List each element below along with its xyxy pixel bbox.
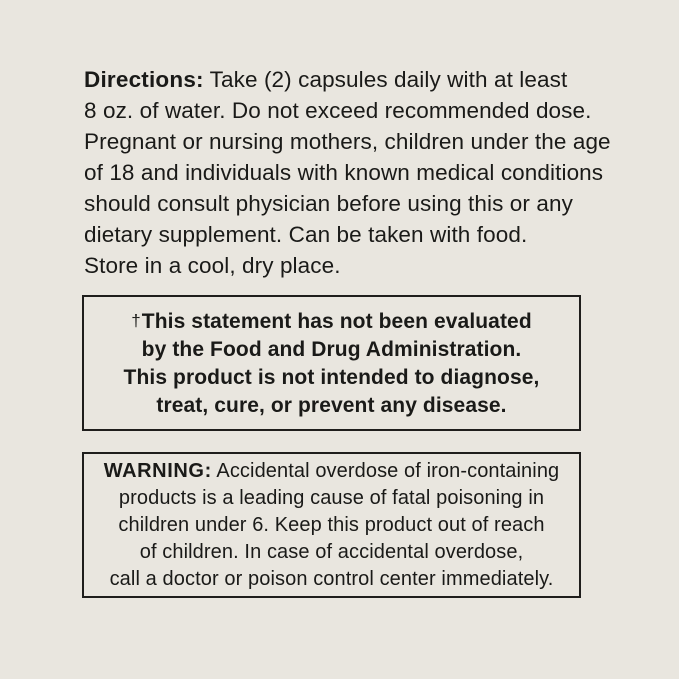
warning-line-text: Accidental overdose of iron-containing <box>212 460 559 482</box>
warning-line: call a doctor or poison control center i… <box>110 566 554 593</box>
directions-line: of 18 and individuals with known medical… <box>84 157 614 188</box>
directions-label: Directions: <box>84 67 204 92</box>
directions-line: dietary supplement. Can be taken with fo… <box>84 219 614 250</box>
directions-line: should consult physician before using th… <box>84 188 614 219</box>
disclaimer-line: treat, cure, or prevent any disease. <box>156 392 506 420</box>
iron-warning-box: WARNING: Accidental overdose of iron-con… <box>82 452 581 598</box>
directions-line-text: Take (2) capsules daily with at least <box>204 67 568 92</box>
disclaimer-line: by the Food and Drug Administration. <box>142 336 522 364</box>
disclaimer-line: †This statement has not been evaluated <box>131 307 532 336</box>
dagger-symbol: † <box>131 311 142 330</box>
directions-line: Pregnant or nursing mothers, children un… <box>84 126 614 157</box>
warning-line: of children. In case of accidental overd… <box>140 539 524 566</box>
directions-line: Directions: Take (2) capsules daily with… <box>84 64 614 95</box>
disclaimer-line: This product is not intended to diagnose… <box>124 364 540 392</box>
directions-block: Directions: Take (2) capsules daily with… <box>84 64 614 281</box>
warning-line: products is a leading cause of fatal poi… <box>119 485 544 512</box>
warning-line: WARNING: Accidental overdose of iron-con… <box>104 458 560 485</box>
disclaimer-line-text: This statement has not been evaluated <box>142 310 532 333</box>
supplement-label-panel: Directions: Take (2) capsules daily with… <box>0 0 679 679</box>
fda-disclaimer-box: †This statement has not been evaluated b… <box>82 295 581 431</box>
directions-line: 8 oz. of water. Do not exceed recommende… <box>84 95 614 126</box>
directions-line: Store in a cool, dry place. <box>84 250 614 281</box>
warning-line: children under 6. Keep this product out … <box>118 512 544 539</box>
warning-label: WARNING: <box>104 460 212 482</box>
